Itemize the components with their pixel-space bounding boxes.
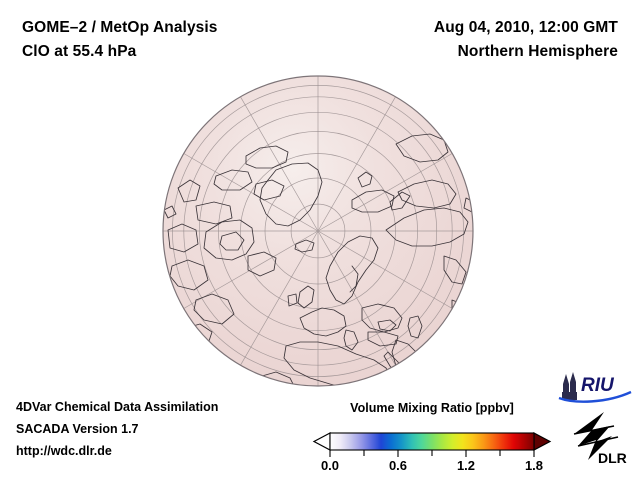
orthographic-globe bbox=[0, 60, 640, 400]
header-right: Aug 04, 2010, 12:00 GMT Northern Hemisph… bbox=[434, 16, 618, 64]
software-version-label: SACADA Version 1.7 bbox=[16, 418, 218, 440]
dlr-wordmark: DLR bbox=[598, 450, 627, 466]
colorbar-legend: Volume Mixing Ratio [ppbv] 0.00.61.21.8 bbox=[312, 400, 552, 471]
colorbar-tick-label: 0.6 bbox=[389, 458, 407, 471]
dlr-logo: DLR bbox=[566, 410, 632, 468]
assimilation-method-label: 4DVar Chemical Data Assimilation bbox=[16, 396, 218, 418]
footer-left: 4DVar Chemical Data Assimilation SACADA … bbox=[16, 396, 218, 462]
colorbar-tick-label: 1.8 bbox=[525, 458, 543, 471]
colorbar-ticks bbox=[330, 450, 534, 457]
colorbar-tick-label: 0.0 bbox=[321, 458, 339, 471]
colorbar-gradient-bar bbox=[330, 433, 534, 450]
colorbar-scale: 0.00.61.21.8 bbox=[312, 419, 552, 471]
cathedral-spires-icon bbox=[562, 372, 577, 400]
colorbar-low-extend-arrow bbox=[314, 433, 330, 450]
colorbar-tick-labels: 0.00.61.21.8 bbox=[321, 458, 543, 471]
colorbar-title: Volume Mixing Ratio [ppbv] bbox=[312, 400, 552, 416]
colorbar-tick-label: 1.2 bbox=[457, 458, 475, 471]
riu-wordmark: RIU bbox=[581, 375, 615, 396]
timestamp-label: Aug 04, 2010, 12:00 GMT bbox=[434, 16, 618, 40]
riu-logo: RIU bbox=[557, 370, 633, 404]
website-url-label: http://wdc.dlr.de bbox=[16, 440, 218, 462]
colorbar-high-extend-arrow bbox=[534, 433, 550, 450]
globe-map-panel bbox=[0, 60, 640, 400]
header-left: GOME–2 / MetOp Analysis ClO at 55.4 hPa bbox=[22, 16, 218, 64]
analysis-title: GOME–2 / MetOp Analysis bbox=[22, 16, 218, 40]
